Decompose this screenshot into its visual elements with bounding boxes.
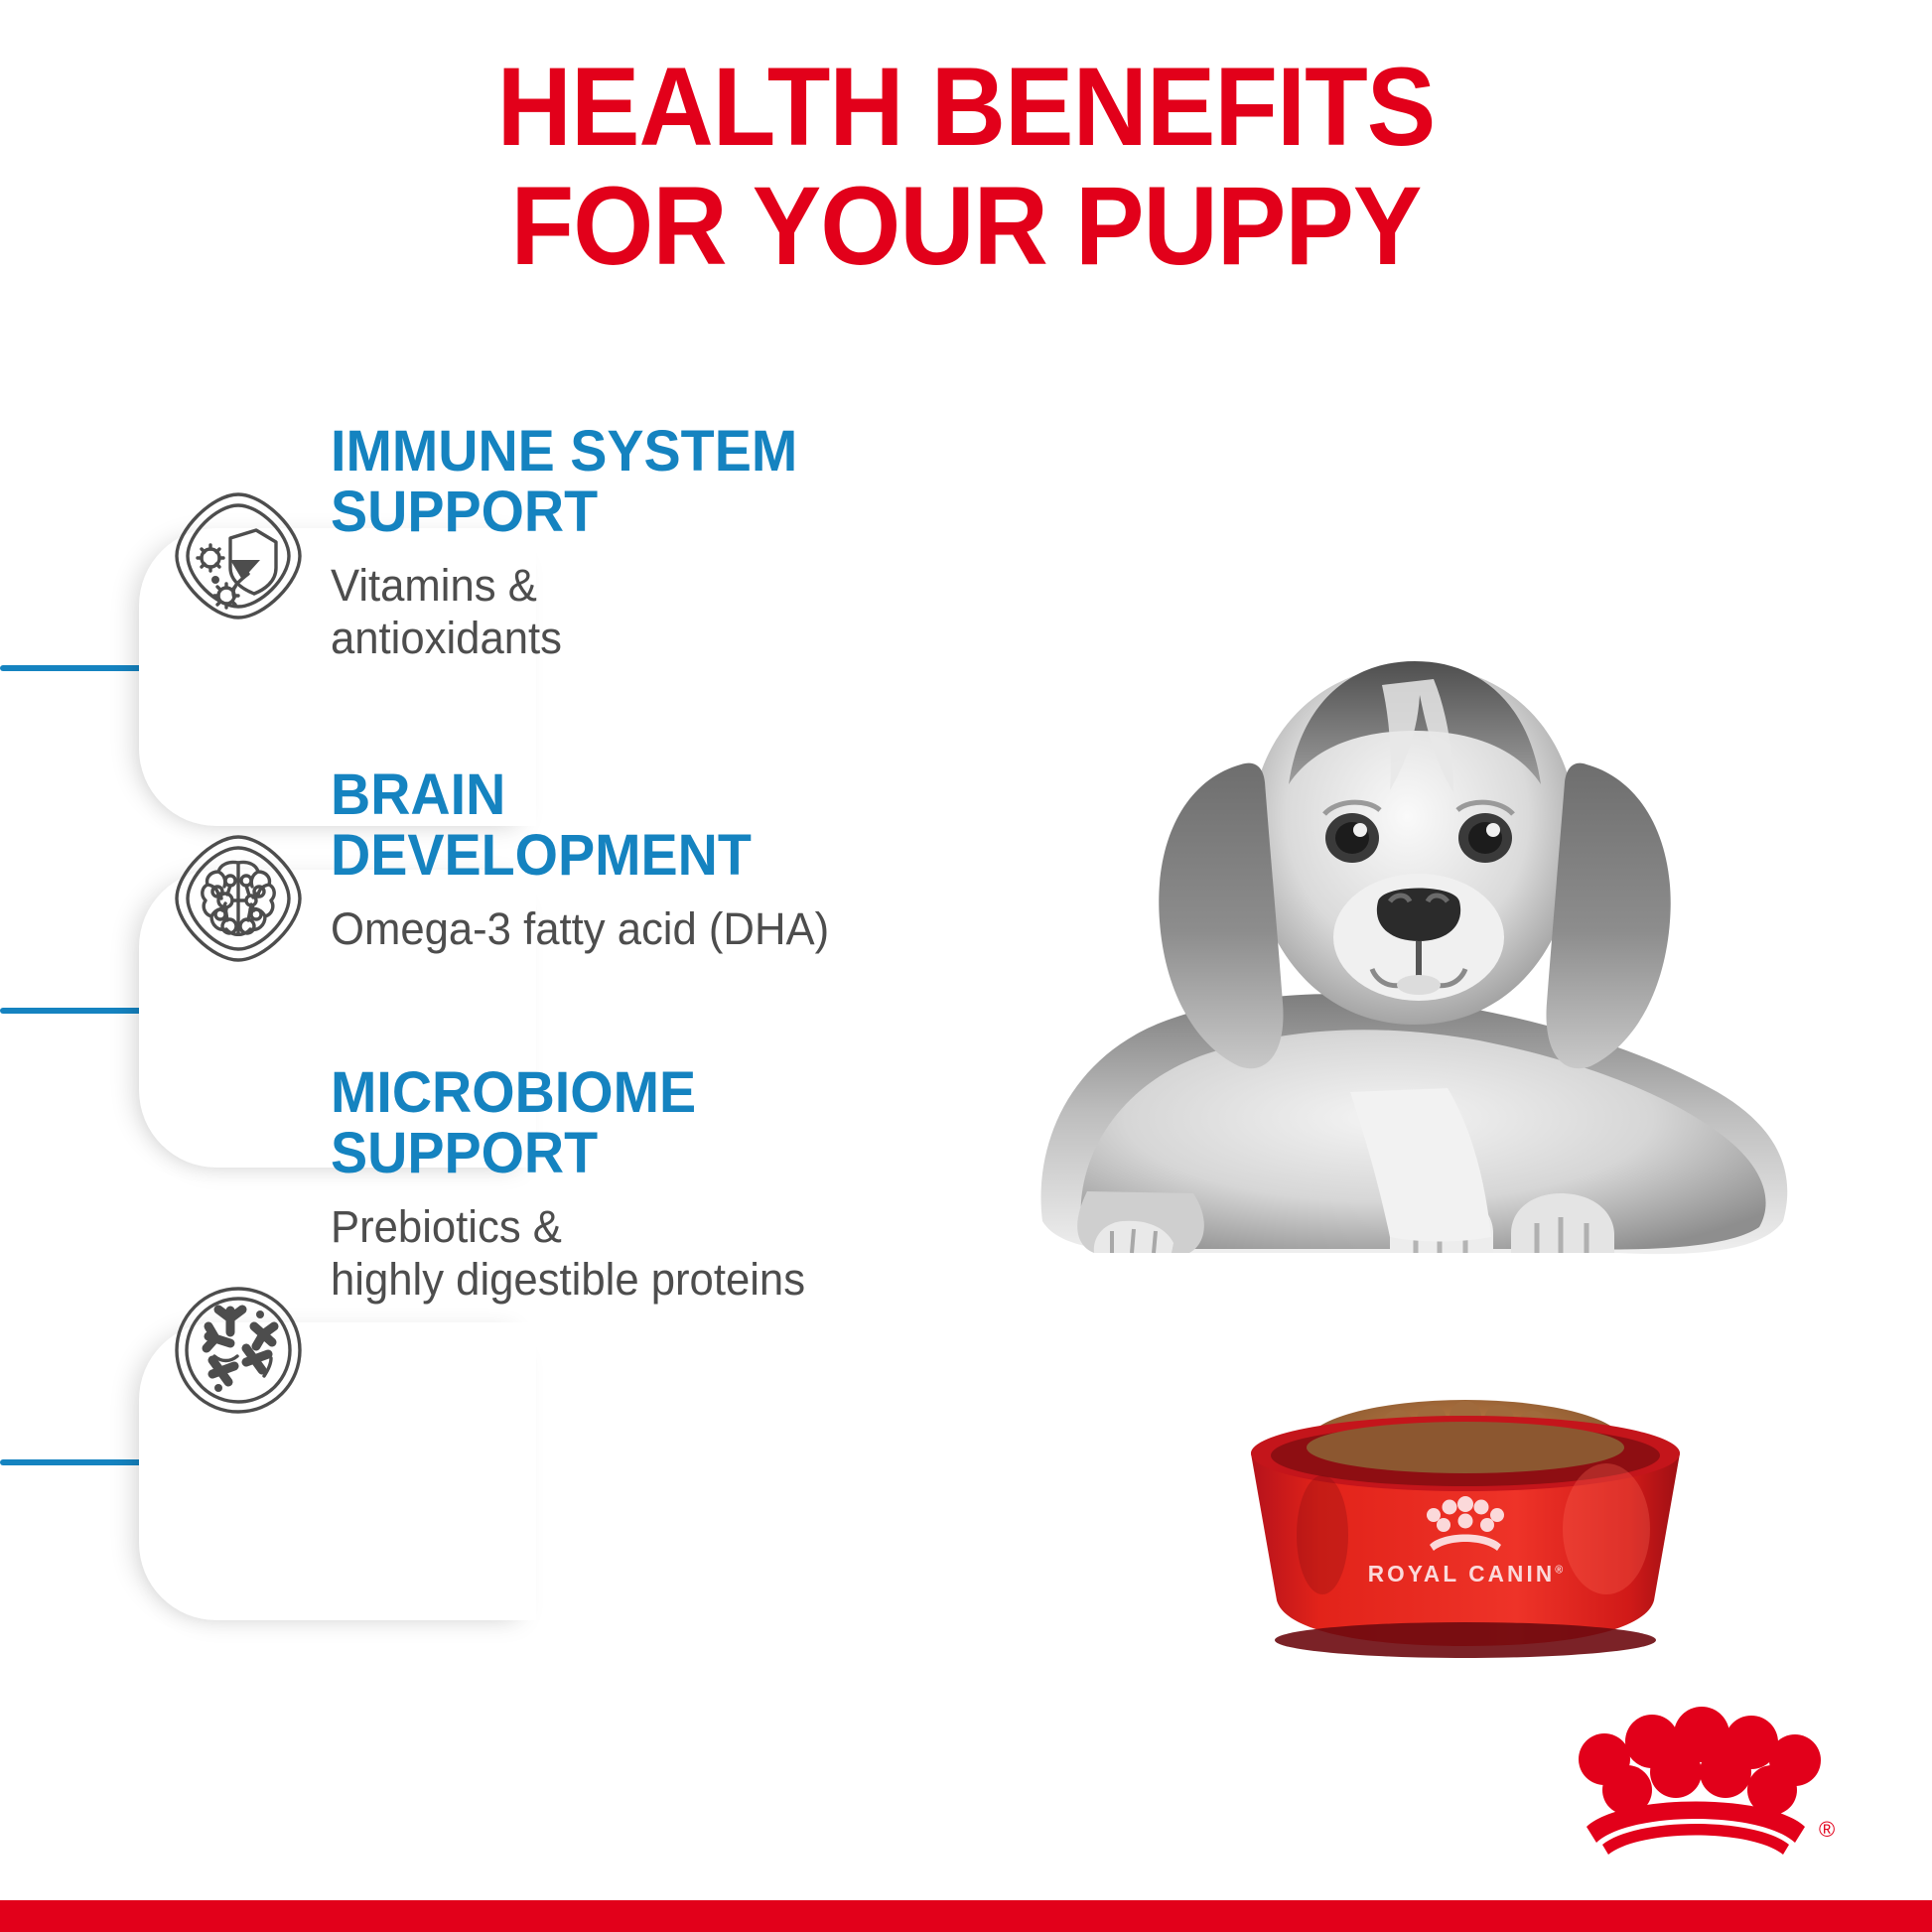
royal-canin-crown-logo: ®	[1545, 1688, 1843, 1871]
benefit-subtitle-brain: Omega-3 fatty acid (DHA)	[331, 902, 1005, 955]
benefit-text-microbiome: MICROBIOME SUPPORT Prebiotics & highly d…	[331, 1062, 1026, 1306]
benefit-text-brain: BRAIN DEVELOPMENT Omega-3 fatty acid (DH…	[331, 764, 1026, 955]
page-title-line-2: FOR YOUR PUPPY	[68, 167, 1864, 286]
footer-red-bar	[0, 1900, 1932, 1932]
dog-food-bowl: ROYAL CANIN®	[1227, 1370, 1704, 1658]
bowl-brand-text: ROYAL CANIN	[1368, 1561, 1556, 1587]
benefit-heading-brain: BRAIN DEVELOPMENT	[331, 764, 998, 887]
benefit-text-immune: IMMUNE SYSTEM SUPPORT Vitamins & antioxi…	[331, 421, 1026, 664]
page-title: HEALTH BENEFITS FOR YOUR PUPPY	[68, 48, 1864, 286]
bowl-trademark: ®	[1555, 1564, 1563, 1576]
connector-line-immune	[0, 665, 154, 671]
connector-line-microbiome	[0, 1459, 154, 1465]
logo-trademark: ®	[1819, 1817, 1835, 1842]
benefit-subtitle-immune: Vitamins & antioxidants	[331, 559, 1005, 664]
page-title-line-1: HEALTH BENEFITS	[68, 48, 1864, 167]
brain-icon	[169, 829, 308, 968]
immune-shield-icon	[169, 486, 308, 625]
benefit-subtitle-microbiome: Prebiotics & highly digestible proteins	[331, 1200, 1005, 1306]
bowl-brand-label: ROYAL CANIN®	[1232, 1561, 1699, 1587]
puppy-photo	[923, 536, 1926, 1390]
benefit-heading-immune: IMMUNE SYSTEM SUPPORT	[331, 421, 998, 543]
microbiome-icon	[169, 1281, 308, 1420]
benefit-heading-microbiome: MICROBIOME SUPPORT	[331, 1062, 998, 1184]
connector-line-brain	[0, 1008, 154, 1014]
poster-canvas: HEALTH BENEFITS FOR YOUR PUPPY	[0, 0, 1932, 1932]
